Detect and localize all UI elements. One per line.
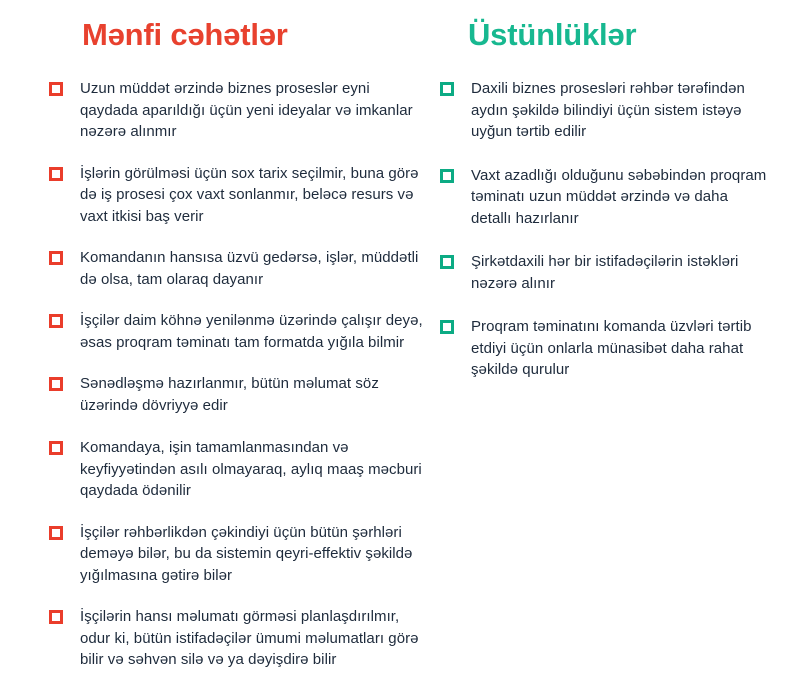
- list-item-text: Komandaya, işin tamamlanmasından və keyf…: [80, 437, 430, 502]
- column-negative: Mənfi cəhətlər Uzun müddət ərzində bizne…: [0, 0, 440, 671]
- list-item: Şirkətdaxili hər bir istifadəçilərin ist…: [440, 251, 770, 294]
- list-item: İşlərin görülməsi üçün sox tarix seçilmi…: [49, 163, 430, 228]
- negative-list: Uzun müddət ərzində biznes proseslər eyn…: [49, 78, 430, 671]
- square-outline-icon: [440, 255, 454, 269]
- list-item: Vaxt azadlığı olduğunu səbəbindən proqra…: [440, 165, 770, 230]
- positive-list: Daxili biznes prosesləri rəhbər tərəfind…: [440, 78, 770, 381]
- list-item-text: Komandanın hansısa üzvü gedərsə, işlər, …: [80, 247, 430, 290]
- square-outline-icon: [49, 526, 63, 540]
- square-outline-icon: [440, 320, 454, 334]
- columns-container: Mənfi cəhətlər Uzun müddət ərzində bizne…: [0, 0, 800, 693]
- square-outline-icon: [49, 167, 63, 181]
- list-item-text: İşlərin görülməsi üçün sox tarix seçilmi…: [80, 163, 430, 228]
- list-item-text: İşçilərin hansı məlumatı görməsi planlaş…: [80, 606, 430, 671]
- list-item-text: İşçilər rəhbərlikdən çəkindiyi üçün bütü…: [80, 522, 430, 587]
- list-item: Komandaya, işin tamamlanmasından və keyf…: [49, 437, 430, 502]
- list-item: İşçilərin hansı məlumatı görməsi planlaş…: [49, 606, 430, 671]
- list-item: İşçilər rəhbərlikdən çəkindiyi üçün bütü…: [49, 522, 430, 587]
- square-outline-icon: [49, 251, 63, 265]
- square-outline-icon: [49, 377, 63, 391]
- list-item-text: Uzun müddət ərzində biznes proseslər eyn…: [80, 78, 430, 143]
- list-item-text: İşçilər daim köhnə yenilənmə üzərində ça…: [80, 310, 430, 353]
- square-outline-icon: [49, 441, 63, 455]
- list-item: Daxili biznes prosesləri rəhbər tərəfind…: [440, 78, 770, 143]
- list-item: Komandanın hansısa üzvü gedərsə, işlər, …: [49, 247, 430, 290]
- list-item: Sənədləşmə hazırlanmır, bütün məlumat sö…: [49, 373, 430, 416]
- square-outline-icon: [49, 314, 63, 328]
- square-outline-icon: [440, 169, 454, 183]
- list-item-text: Şirkətdaxili hər bir istifadəçilərin ist…: [471, 251, 770, 294]
- list-item: Proqram təminatını komanda üzvləri tərti…: [440, 316, 770, 381]
- list-item: Uzun müddət ərzində biznes proseslər eyn…: [49, 78, 430, 143]
- list-item-text: Proqram təminatını komanda üzvləri tərti…: [471, 316, 770, 381]
- list-item-text: Daxili biznes prosesləri rəhbər tərəfind…: [471, 78, 770, 143]
- comparison-infographic: Mənfi cəhətlər Uzun müddət ərzində bizne…: [0, 0, 800, 693]
- list-item-text: Sənədləşmə hazırlanmır, bütün məlumat sö…: [80, 373, 430, 416]
- square-outline-icon: [49, 610, 63, 624]
- list-item-text: Vaxt azadlığı olduğunu səbəbindən proqra…: [471, 165, 770, 230]
- positive-column-title: Üstünlüklər: [440, 18, 770, 52]
- square-outline-icon: [440, 82, 454, 96]
- square-outline-icon: [49, 82, 63, 96]
- list-item: İşçilər daim köhnə yenilənmə üzərində ça…: [49, 310, 430, 353]
